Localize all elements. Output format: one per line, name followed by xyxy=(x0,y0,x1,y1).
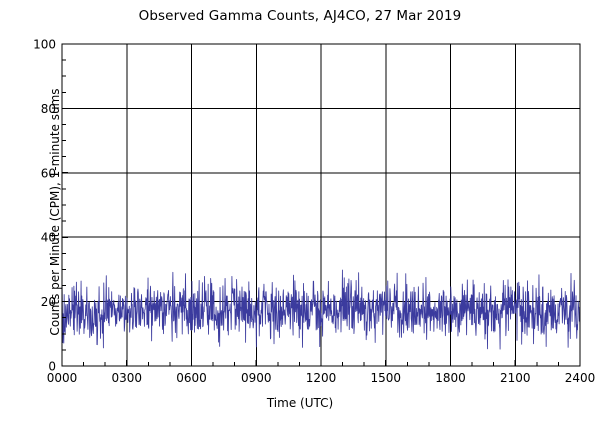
svg-text:60: 60 xyxy=(41,166,56,180)
svg-text:80: 80 xyxy=(41,102,56,116)
plot-area: 0204060801000000030006000900120015001800… xyxy=(0,0,600,428)
svg-text:1500: 1500 xyxy=(370,371,401,385)
svg-text:1200: 1200 xyxy=(306,371,337,385)
svg-text:0000: 0000 xyxy=(47,371,78,385)
gamma-counts-figure: Observed Gamma Counts, AJ4CO, 27 Mar 201… xyxy=(0,0,600,428)
svg-text:1800: 1800 xyxy=(435,371,466,385)
svg-text:20: 20 xyxy=(41,295,56,309)
svg-text:0300: 0300 xyxy=(111,371,142,385)
svg-text:2400: 2400 xyxy=(565,371,596,385)
svg-text:0600: 0600 xyxy=(176,371,207,385)
svg-text:40: 40 xyxy=(41,231,56,245)
svg-text:100: 100 xyxy=(33,38,56,52)
svg-text:2100: 2100 xyxy=(500,371,531,385)
axis-tick-labels: 0204060801000000030006000900120015001800… xyxy=(33,38,595,386)
svg-text:0900: 0900 xyxy=(241,371,272,385)
